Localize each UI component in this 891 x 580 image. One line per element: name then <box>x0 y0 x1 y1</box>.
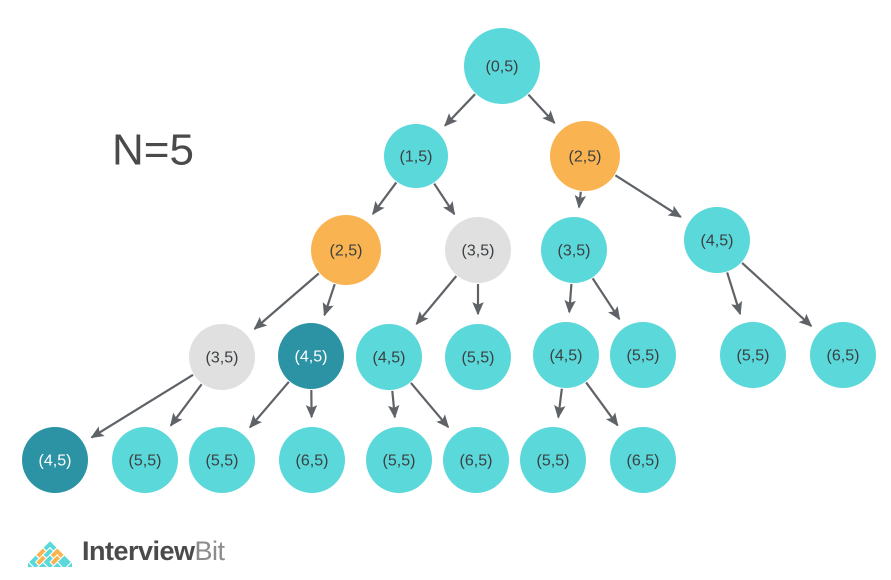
tree-node[interactable]: (3,5) <box>189 324 255 390</box>
recursion-tree-diagram: (0,5)(1,5)(2,5)(2,5)(3,5)(3,5)(4,5)(3,5)… <box>0 0 891 580</box>
tree-node[interactable]: (6,5) <box>443 427 509 493</box>
n-value-label: N=5 <box>112 126 194 175</box>
tree-node[interactable]: (5,5) <box>189 427 255 493</box>
tree-node[interactable]: (5,5) <box>610 322 676 388</box>
tree-edge <box>528 95 554 123</box>
tree-node[interactable]: (4,5) <box>278 323 344 389</box>
tree-edge <box>392 391 395 417</box>
tree-node-circle <box>533 322 599 388</box>
tree-node-circle <box>112 427 178 493</box>
tree-node[interactable]: (2,5) <box>311 215 381 285</box>
interviewbit-diamond-logo-icon <box>28 537 72 567</box>
tree-node-circle <box>720 322 786 388</box>
tree-node[interactable]: (4,5) <box>533 322 599 388</box>
tree-node-circle <box>550 121 620 191</box>
logo-text-bit: Bit <box>195 536 225 566</box>
tree-node-circle <box>541 217 607 283</box>
tree-node-circle <box>810 322 876 388</box>
node-layer: (0,5)(1,5)(2,5)(2,5)(3,5)(3,5)(4,5)(3,5)… <box>22 28 876 493</box>
tree-node[interactable]: (4,5) <box>356 324 422 390</box>
interviewbit-logo: InterviewBit <box>28 536 225 567</box>
tree-node[interactable]: (0,5) <box>464 28 540 104</box>
tree-edge <box>434 184 454 215</box>
tree-edge <box>324 284 334 315</box>
tree-node-circle <box>520 427 586 493</box>
tree-edge <box>445 94 475 125</box>
tree-node-circle <box>279 427 345 493</box>
tree-edge <box>579 192 581 208</box>
tree-edge <box>593 278 620 319</box>
tree-edge <box>727 272 740 314</box>
tree-node-circle <box>684 207 750 273</box>
tree-node-circle <box>278 323 344 389</box>
tree-edge <box>255 274 319 329</box>
tree-edge <box>250 382 289 427</box>
tree-node[interactable]: (4,5) <box>684 207 750 273</box>
tree-node[interactable]: (4,5) <box>22 427 88 493</box>
tree-edge <box>373 182 396 213</box>
logo-wordmark: InterviewBit <box>82 536 225 567</box>
tree-edge <box>411 383 448 427</box>
tree-node[interactable]: (5,5) <box>520 427 586 493</box>
tree-node[interactable]: (5,5) <box>112 427 178 493</box>
tree-node[interactable]: (3,5) <box>541 217 607 283</box>
tree-edge <box>586 382 617 425</box>
tree-edge <box>742 263 811 326</box>
tree-node[interactable]: (6,5) <box>610 427 676 493</box>
tree-node-circle <box>464 28 540 104</box>
tree-node[interactable]: (3,5) <box>445 217 511 283</box>
tree-node-circle <box>610 322 676 388</box>
tree-node[interactable]: (1,5) <box>384 124 448 188</box>
tree-node-circle <box>366 427 432 493</box>
tree-node-circle <box>22 427 88 493</box>
tree-node-circle <box>445 217 511 283</box>
tree-node-circle <box>443 427 509 493</box>
tree-edge <box>558 389 562 418</box>
logo-text-interview: Interview <box>82 536 195 566</box>
tree-edge <box>615 175 680 217</box>
tree-node-circle <box>384 124 448 188</box>
tree-node[interactable]: (2,5) <box>550 121 620 191</box>
tree-edge <box>416 276 456 324</box>
tree-node[interactable]: (6,5) <box>810 322 876 388</box>
tree-node[interactable]: (5,5) <box>366 427 432 493</box>
tree-node[interactable]: (5,5) <box>445 324 511 390</box>
tree-edge <box>569 284 571 312</box>
tree-node[interactable]: (5,5) <box>720 322 786 388</box>
tree-node-circle <box>189 427 255 493</box>
tree-node-circle <box>445 324 511 390</box>
tree-node-circle <box>311 215 381 285</box>
tree-node-circle <box>189 324 255 390</box>
tree-node[interactable]: (6,5) <box>279 427 345 493</box>
tree-edge <box>171 384 202 425</box>
tree-node-circle <box>356 324 422 390</box>
tree-node-circle <box>610 427 676 493</box>
